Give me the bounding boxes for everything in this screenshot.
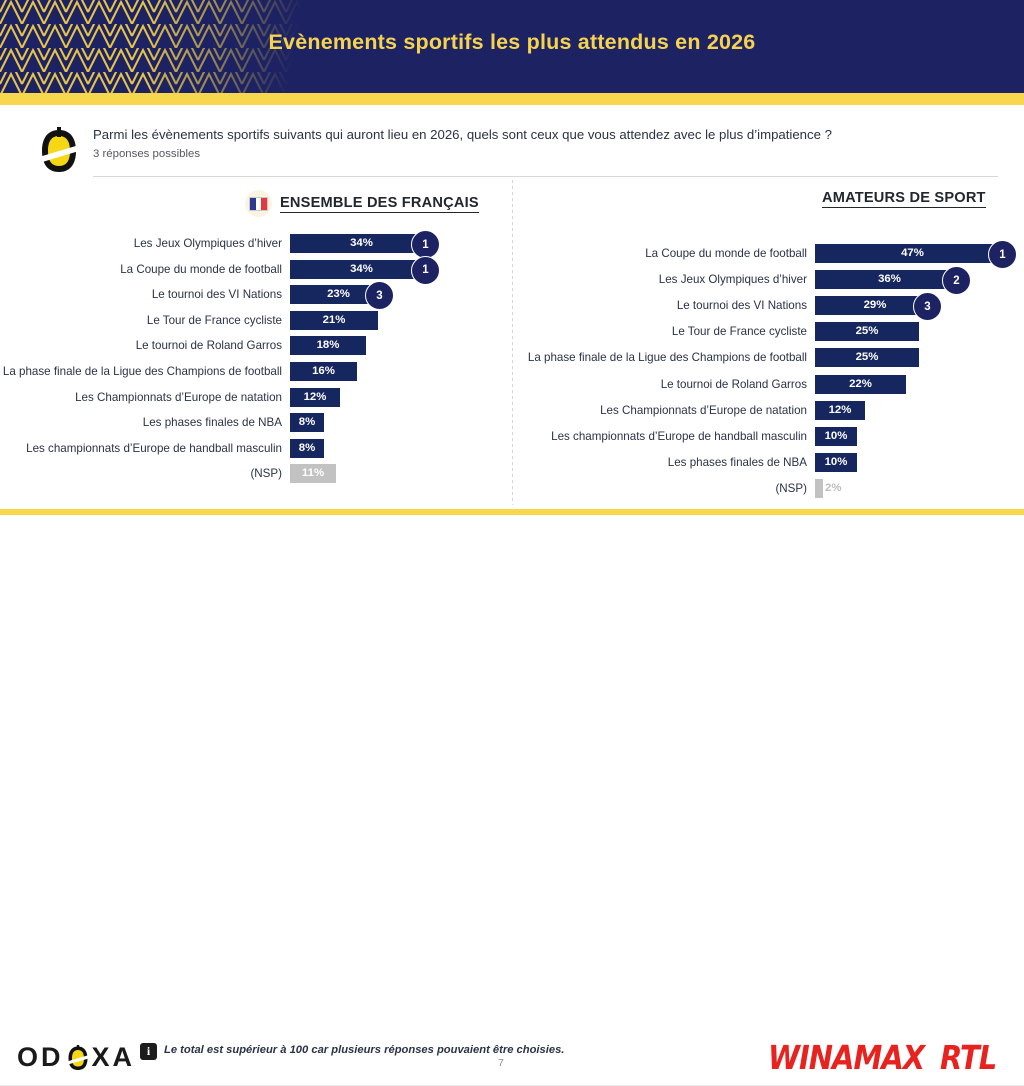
chart-row: Les Jeux Olympiques d’hiver36%2 bbox=[815, 270, 964, 289]
left-column-header: ENSEMBLE DES FRANÇAIS bbox=[245, 190, 479, 217]
chart-row: La phase finale de la Ligue des Champion… bbox=[815, 348, 919, 367]
rank-badge: 1 bbox=[411, 230, 440, 259]
bar-value-label: 10% bbox=[815, 427, 857, 446]
bar-value-label: 2% bbox=[825, 479, 857, 498]
bar-category-label: Le tournoi des VI Nations bbox=[677, 296, 807, 315]
rank-badge: 2 bbox=[942, 266, 971, 295]
bar: 12% bbox=[290, 388, 340, 407]
chart-row: Le tournoi de Roland Garros18% bbox=[290, 336, 366, 355]
bar: 2% bbox=[815, 479, 823, 498]
rtl-logo: RTL bbox=[940, 1039, 996, 1077]
bar-category-label: La phase finale de la Ligue des Champion… bbox=[528, 348, 807, 367]
bar: 34%1 bbox=[290, 260, 433, 279]
slide: Evènements sportifs les plus attendus en… bbox=[0, 0, 1024, 578]
bar: 34%1 bbox=[290, 234, 433, 253]
bar-category-label: Les championnats d’Europe de handball ma… bbox=[26, 439, 282, 458]
bar-value-label: 16% bbox=[290, 362, 357, 381]
question-text: Parmi les évènements sportifs suivants q… bbox=[93, 127, 893, 144]
info-icon: i bbox=[140, 1043, 157, 1060]
chart-row: Le tournoi des VI Nations23%3 bbox=[290, 285, 387, 304]
bar-value-label: 25% bbox=[815, 322, 919, 341]
chart-row: (NSP)11% bbox=[290, 464, 336, 483]
chart-row: (NSP)2% bbox=[815, 479, 823, 498]
bar-category-label: Le tournoi de Roland Garros bbox=[661, 375, 807, 394]
bar-value-label: 25% bbox=[815, 348, 919, 367]
french-flag-icon bbox=[245, 190, 272, 217]
bar-category-label: Le Tour de France cycliste bbox=[672, 322, 807, 341]
chart-row: Le tournoi de Roland Garros22% bbox=[815, 375, 906, 394]
bar-value-label: 22% bbox=[815, 375, 906, 394]
chart-row: Les Jeux Olympiques d’hiver34%1 bbox=[290, 234, 433, 253]
bar-category-label: Les Jeux Olympiques d’hiver bbox=[134, 234, 282, 253]
bar: 16% bbox=[290, 362, 357, 381]
question-divider bbox=[93, 176, 998, 177]
bar: 8% bbox=[290, 439, 324, 458]
bar: 36%2 bbox=[815, 270, 964, 289]
chart-row: Le Tour de France cycliste25% bbox=[815, 322, 919, 341]
footnote-text: Le total est supérieur à 100 car plusieu… bbox=[164, 1044, 564, 1056]
bar-value-label: 11% bbox=[290, 464, 336, 483]
question-block: Parmi les évènements sportifs suivants q… bbox=[93, 127, 893, 160]
winamax-logo: WINAMAX bbox=[768, 1039, 924, 1077]
bar-category-label: Les Championnats d’Europe de natation bbox=[600, 401, 807, 420]
bar: 10% bbox=[815, 427, 857, 446]
bar-category-label: Le Tour de France cycliste bbox=[147, 311, 282, 330]
rank-badge: 1 bbox=[411, 256, 440, 285]
rank-badge: 1 bbox=[988, 240, 1017, 269]
chart-row: La Coupe du monde de football34%1 bbox=[290, 260, 433, 279]
slide-header: Evènements sportifs les plus attendus en… bbox=[0, 0, 1024, 93]
bar-category-label: La Coupe du monde de football bbox=[645, 244, 807, 263]
bar: 25% bbox=[815, 322, 919, 341]
odoxa-wordmark: OD XA bbox=[17, 1042, 135, 1073]
chart-row: La phase finale de la Ligue des Champion… bbox=[290, 362, 357, 381]
chart-row: Les phases finales de NBA10% bbox=[815, 453, 857, 472]
bar: 23%3 bbox=[290, 285, 387, 304]
chart-row: Le Tour de France cycliste21% bbox=[290, 311, 378, 330]
page-title: Evènements sportifs les plus attendus en… bbox=[0, 30, 1024, 55]
chart-row: Les phases finales de NBA8% bbox=[290, 413, 324, 432]
bar-value-label: 12% bbox=[290, 388, 340, 407]
bar-category-label: La phase finale de la Ligue des Champion… bbox=[3, 362, 282, 381]
bar-category-label: Les Championnats d’Europe de natation bbox=[75, 388, 282, 407]
bar: 47%1 bbox=[815, 244, 1010, 263]
rank-badge: 3 bbox=[913, 292, 942, 321]
question-subtitle: 3 réponses possibles bbox=[93, 148, 893, 160]
bar: 22% bbox=[815, 375, 906, 394]
bar-category-label: (NSP) bbox=[775, 479, 807, 498]
odoxa-logo-glyph-icon bbox=[66, 1045, 90, 1071]
bar-value-label: 8% bbox=[290, 413, 324, 432]
chart-row: La Coupe du monde de football47%1 bbox=[815, 244, 1010, 263]
bar: 25% bbox=[815, 348, 919, 367]
bar-category-label: Les Jeux Olympiques d’hiver bbox=[659, 270, 807, 289]
bar: 12% bbox=[815, 401, 865, 420]
bar-value-label: 12% bbox=[815, 401, 865, 420]
bar-value-label: 10% bbox=[815, 453, 857, 472]
bar: 29%3 bbox=[815, 296, 935, 315]
chart-row: Les Championnats d’Europe de natation12% bbox=[815, 401, 865, 420]
right-column-title: AMATEURS DE SPORT bbox=[822, 190, 986, 208]
slide-footer: OD XA i Le total est supérieur à 100 car… bbox=[0, 515, 1024, 578]
bar: 11% bbox=[290, 464, 336, 483]
bar: 10% bbox=[815, 453, 857, 472]
odoxa-wordmark-text-1: OD bbox=[17, 1042, 64, 1073]
rank-badge: 3 bbox=[365, 281, 394, 310]
bar-value-label: 8% bbox=[290, 439, 324, 458]
page-number: 7 bbox=[498, 1057, 504, 1069]
odoxa-logo-icon bbox=[37, 127, 81, 175]
bar-value-label: 18% bbox=[290, 336, 366, 355]
bar-category-label: Le tournoi de Roland Garros bbox=[136, 336, 282, 355]
column-divider bbox=[512, 180, 513, 505]
right-column-header: AMATEURS DE SPORT bbox=[822, 190, 986, 208]
chart-row: Les Championnats d’Europe de natation12% bbox=[290, 388, 340, 407]
chart-ensemble-des-francais: Les Jeux Olympiques d’hiver34%1La Coupe … bbox=[290, 234, 505, 494]
chart-row: Le tournoi des VI Nations29%3 bbox=[815, 296, 935, 315]
bar: 18% bbox=[290, 336, 366, 355]
bar-category-label: Le tournoi des VI Nations bbox=[152, 285, 282, 304]
bar-category-label: Les championnats d’Europe de handball ma… bbox=[551, 427, 807, 446]
odoxa-wordmark-text-2: XA bbox=[92, 1042, 136, 1073]
chart-amateurs-de-sport: La Coupe du monde de football47%1Les Jeu… bbox=[815, 244, 1015, 504]
chart-row: Les championnats d’Europe de handball ma… bbox=[815, 427, 857, 446]
bar-category-label: Les phases finales de NBA bbox=[668, 453, 807, 472]
bar: 21% bbox=[290, 311, 378, 330]
bar-value-label: 47% bbox=[815, 244, 1010, 263]
bar-category-label: Les phases finales de NBA bbox=[143, 413, 282, 432]
bar: 8% bbox=[290, 413, 324, 432]
header-accent-band bbox=[0, 93, 1024, 105]
bar-category-label: (NSP) bbox=[250, 464, 282, 483]
left-column-title: ENSEMBLE DES FRANÇAIS bbox=[280, 195, 479, 213]
bar-category-label: La Coupe du monde de football bbox=[120, 260, 282, 279]
chart-row: Les championnats d’Europe de handball ma… bbox=[290, 439, 324, 458]
bar-value-label: 21% bbox=[290, 311, 378, 330]
